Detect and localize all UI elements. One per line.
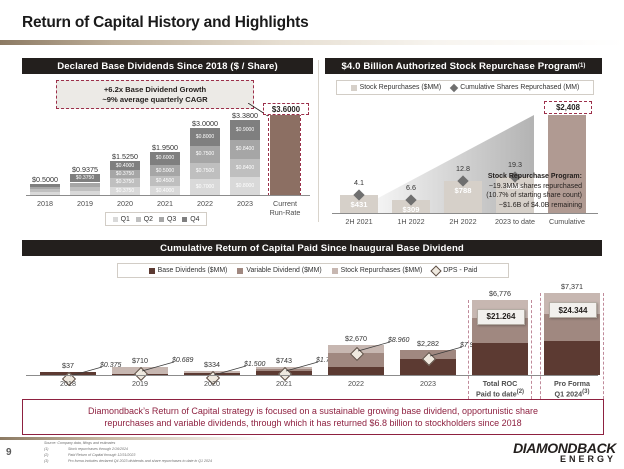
legend-item-q2: Q2 bbox=[136, 216, 153, 223]
footer-divider bbox=[0, 437, 270, 440]
right-panel-header-footnote: (1) bbox=[578, 63, 586, 69]
bottom-category-2021: 2021 bbox=[246, 379, 322, 388]
left-segment-2022-Q2: $0.7500 bbox=[190, 163, 220, 180]
title-divider-highlight bbox=[0, 45, 624, 47]
legend-label-cumulative-shares: Cumulative Shares Repurchased (MM) bbox=[460, 84, 579, 91]
right-category-2023-to-date: 2023 to date bbox=[488, 217, 542, 226]
cumulative-shares-label-2h-2021: 4.1 bbox=[340, 178, 378, 187]
left-total-label-2020: $1.5250 bbox=[101, 152, 149, 161]
left-segment-2023-Q4: $0.9000 bbox=[230, 120, 260, 140]
legend-item-q4: Q4 bbox=[182, 216, 199, 223]
legend-label-base-dividends: Base Dividends ($MM) bbox=[158, 267, 228, 274]
strategy-callout: Diamondback’s Return of Capital strategy… bbox=[22, 399, 604, 435]
legend-item-cumulative-shares: Cumulative Shares Repurchased (MM) bbox=[451, 84, 579, 91]
left-segment-2019-Q4: $0.3750 bbox=[70, 174, 100, 182]
slide: Return of Capital History and Highlights… bbox=[0, 0, 624, 469]
company-logo: DIAMONDBACK ENERGY bbox=[513, 440, 616, 464]
page-title: Return of Capital History and Highlights bbox=[22, 14, 309, 32]
legend-item-q1: Q1 bbox=[113, 216, 130, 223]
left-total-label-2022: $3.0000 bbox=[181, 119, 229, 128]
footnote-1-mark: (1) bbox=[44, 447, 48, 451]
footnote-source: Source: Company data, filings and estima… bbox=[44, 441, 115, 446]
right-chart-axis bbox=[332, 213, 598, 214]
cumulative-value-label: $2,408 bbox=[544, 101, 592, 114]
legend-diamond-dps-paid bbox=[431, 265, 442, 276]
left-panel-header: Declared Base Dividends Since 2018 ($ / … bbox=[22, 58, 313, 74]
left-chart-legend: Q1Q2Q3Q4 bbox=[105, 212, 207, 226]
dps-leader-5 bbox=[428, 346, 464, 358]
panel-vertical-divider bbox=[318, 60, 319, 222]
bottom-chart-legend: Base Dividends ($MM) Variable Dividend (… bbox=[117, 263, 509, 278]
left-segment-2021-Q4: $0.6000 bbox=[150, 152, 180, 165]
left-chart-axis bbox=[26, 195, 310, 196]
growth-callout-line-2: ~9% average quarterly CAGR bbox=[102, 95, 207, 105]
dividend-growth-callout: +6.2x Base Dividend Growth ~9% average q… bbox=[56, 80, 254, 109]
bottom-category-2018: 2018 bbox=[30, 379, 106, 388]
legend-label-dps-paid: DPS - Paid bbox=[443, 267, 477, 274]
right-panel-header-text: $4.0 Billion Authorized Stock Repurchase… bbox=[342, 61, 578, 72]
footnote-1: Stock repurchases through 2/16/2024 bbox=[68, 447, 128, 452]
left-category-current-run-rate: CurrentRun-Rate bbox=[260, 199, 310, 217]
legend-item-variable-dividend: Variable Dividend ($MM) bbox=[237, 267, 321, 274]
bottom-category-2023: 2023 bbox=[390, 379, 466, 388]
legend-swatch-stock-repurchases-bottom bbox=[332, 268, 338, 274]
bottom-segment-4-base-dividends-mm- bbox=[328, 367, 384, 375]
left-total-label-Current Run-Rate: $3.6000 bbox=[263, 103, 309, 115]
right-category-2h-2022: 2H 2022 bbox=[436, 217, 490, 226]
footnote-3-mark: (3) bbox=[44, 459, 48, 463]
left-total-label-2023: $3.3800 bbox=[221, 111, 269, 120]
left-total-label-2021: $1.9500 bbox=[141, 143, 189, 152]
legend-item-base-dividends: Base Dividends ($MM) bbox=[149, 267, 228, 274]
bottom-category-pro-forma-q1-2024: Pro FormaQ1 2024(3) bbox=[534, 379, 610, 398]
bottom-category-2019: 2019 bbox=[102, 379, 178, 388]
growth-callout-line-1: +6.2x Base Dividend Growth bbox=[104, 85, 206, 95]
note-line-1: ~19.3MM shares repurchased bbox=[489, 183, 582, 190]
legend-label-stock-repurchases: Stock Repurchases ($MM) bbox=[360, 84, 442, 91]
legend-label-variable-dividend: Variable Dividend ($MM) bbox=[246, 267, 321, 274]
left-segment-2022-Q3: $0.7500 bbox=[190, 146, 220, 163]
left-segment-2023-Q3: $0.8400 bbox=[230, 140, 260, 159]
legend-swatch-q1 bbox=[113, 217, 118, 222]
right-category-2h-2021: 2H 2021 bbox=[332, 217, 386, 226]
right-chart-legend: Stock Repurchases ($MM) Cumulative Share… bbox=[336, 80, 594, 95]
bottom-category-2020: 2020 bbox=[174, 379, 250, 388]
strategy-callout-line-1: Diamondback’s Return of Capital strategy… bbox=[88, 405, 538, 417]
left-segment-2020-Q2: $0.3750 bbox=[110, 178, 140, 186]
legend-item-dps-paid: DPS - Paid bbox=[432, 267, 477, 275]
right-category-1h-2022: 1H 2022 bbox=[384, 217, 438, 226]
dps-leader-4 bbox=[356, 341, 392, 353]
legend-swatch-q4 bbox=[182, 217, 187, 222]
left-total-label-2018: $0.5000 bbox=[21, 175, 69, 184]
left-segment-2021-Q2: $0.4500 bbox=[150, 176, 180, 186]
page-number: 9 bbox=[6, 447, 12, 458]
bottom-category-2022: 2022 bbox=[318, 379, 394, 388]
left-segment-2021-Q3: $0.5000 bbox=[150, 165, 180, 176]
left-segment-2020-Q1: $0.3750 bbox=[110, 187, 140, 195]
dps-leader-1 bbox=[140, 361, 176, 373]
left-segment-2022-Q4: $0.8000 bbox=[190, 128, 220, 146]
cumulative-shares-label-2023-to-date: 19.3 bbox=[496, 160, 534, 169]
legend-item-stock-repurchases: Stock Repurchases ($MM) bbox=[351, 84, 442, 91]
legend-swatch-q3 bbox=[159, 217, 164, 222]
footnote-2: Paid Return of Capital through 12/31/202… bbox=[68, 453, 135, 458]
legend-swatch-variable-dividend bbox=[237, 268, 243, 274]
right-panel-header: $4.0 Billion Authorized Stock Repurchase… bbox=[325, 58, 602, 74]
legend-label-q3: Q3 bbox=[167, 216, 176, 223]
legend-item-q3: Q3 bbox=[159, 216, 176, 223]
legend-label-q4: Q4 bbox=[190, 216, 199, 223]
stock-repurchase-note: Stock Repurchase Program: ~19.3MM shares… bbox=[398, 172, 582, 210]
legend-diamond-cumulative-shares bbox=[450, 83, 458, 91]
bottom-total-label-7: $7,371 bbox=[534, 282, 610, 291]
bottom-panel-header: Cumulative Return of Capital Paid Since … bbox=[22, 240, 602, 256]
dps-leader-0 bbox=[68, 366, 104, 378]
legend-label-stock-repurchases-bottom: Stock Repurchases ($MM) bbox=[341, 267, 423, 274]
left-total-label-2019: $0.9375 bbox=[61, 165, 109, 174]
footnote-2-mark: (2) bbox=[44, 453, 48, 457]
left-segment-2023-Q2: $0.8400 bbox=[230, 159, 260, 178]
right-bar-label-2h-2021: $431 bbox=[340, 200, 378, 209]
legend-label-q2: Q2 bbox=[144, 216, 153, 223]
bottom-total-label-6: $6,776 bbox=[462, 289, 538, 298]
bottom-category-total-roc-paid-to-date: Total ROCPaid to date(2) bbox=[462, 379, 538, 398]
legend-item-stock-repurchases-bottom: Stock Repurchases ($MM) bbox=[332, 267, 423, 274]
legend-swatch-stock-repurchases bbox=[351, 85, 357, 91]
legend-swatch-q2 bbox=[136, 217, 141, 222]
left-segment-2020-Q4: $0.4000 bbox=[110, 161, 140, 170]
note-title: Stock Repurchase Program: bbox=[488, 173, 582, 180]
right-category-cumulative: Cumulative bbox=[540, 217, 594, 226]
left-segment-2022-Q1: $0.7000 bbox=[190, 179, 220, 195]
legend-label-q1: Q1 bbox=[121, 216, 130, 223]
legend-swatch-base-dividends bbox=[149, 268, 155, 274]
dps-leader-3 bbox=[284, 361, 320, 373]
note-line-2: (10.7% of starting share count) bbox=[486, 192, 582, 199]
note-line-3: ~$1.6B of $4.0B remaining bbox=[499, 202, 582, 209]
bottom-chart-axis bbox=[26, 375, 598, 376]
footnote-3: Pro forma includes declared Q4 2023 divi… bbox=[68, 459, 212, 464]
left-segment-2020-Q3: $0.3750 bbox=[110, 170, 140, 178]
left-segment-2021-Q1: $0.4000 bbox=[150, 186, 180, 195]
left-segment-2023-Q1: $0.8000 bbox=[230, 177, 260, 195]
left-bar-current-run-rate-outline bbox=[268, 113, 301, 196]
strategy-callout-line-2: repurchases and variable dividends, thro… bbox=[104, 417, 521, 429]
